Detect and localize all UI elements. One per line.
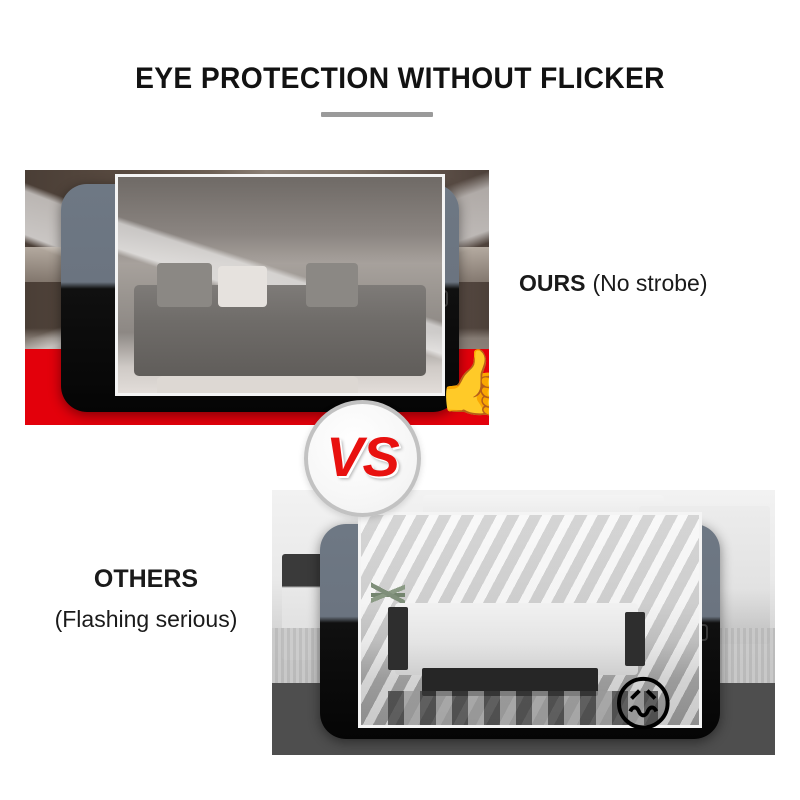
ours-phone-screen: [115, 174, 445, 396]
ours-cushion: [157, 263, 212, 306]
thumbs-up-icon: 👍: [435, 350, 489, 414]
ours-phone-device: [61, 184, 459, 412]
ours-screen-content-no-flicker: [118, 177, 442, 393]
page-title: EYE PROTECTION WITHOUT FLICKER: [24, 62, 776, 96]
others-sofa-arm: [625, 612, 645, 667]
others-sublabel: (Flashing serious): [32, 606, 260, 633]
ours-cushion: [306, 263, 358, 306]
vs-label: VS: [326, 424, 399, 489]
others-sofa-arm: [388, 607, 408, 670]
ours-cushion: [218, 266, 267, 307]
promo-graphic: EYE PROTECTION WITHOUT FLICKER ✔: [0, 0, 800, 800]
distressed-face-icon: 😖: [612, 675, 675, 735]
ours-panel: ✔ 👍: [25, 170, 489, 425]
title-divider: [321, 112, 433, 117]
others-caption: OTHERS (Flashing serious): [32, 565, 260, 633]
ours-label: OURS: [519, 270, 585, 296]
others-panel: ✖ 😖: [272, 490, 775, 755]
ours-sublabel: (No strobe): [592, 270, 707, 296]
others-label: OTHERS: [32, 565, 260, 594]
vs-badge: VS: [304, 400, 421, 517]
others-sofa: [395, 603, 638, 674]
ours-caption: OURS(No strobe): [519, 270, 708, 297]
